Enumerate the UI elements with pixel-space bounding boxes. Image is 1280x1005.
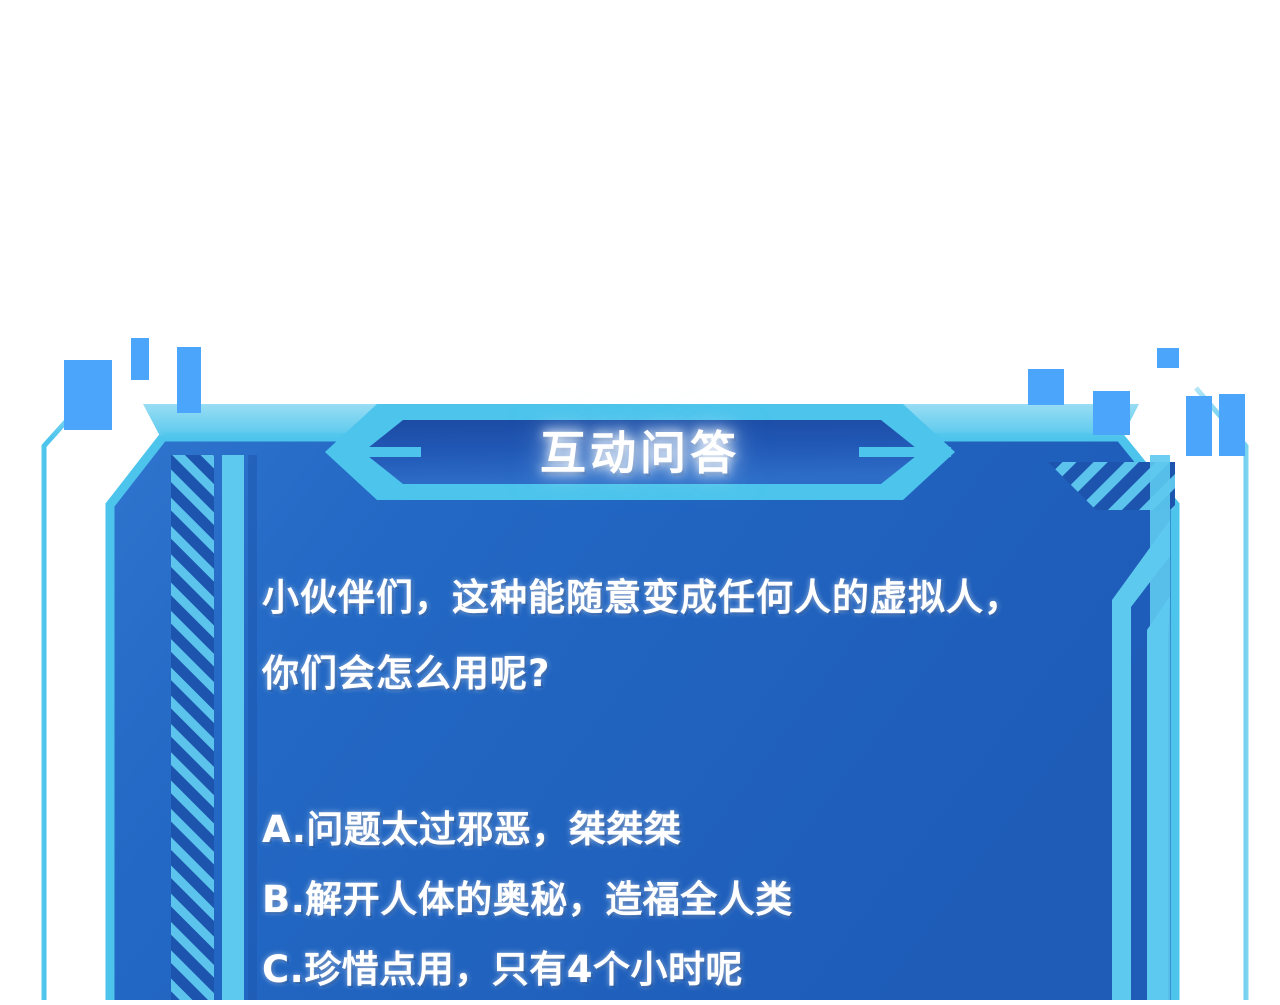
decor-square-left-2: [131, 338, 149, 380]
question-block: 小伙伴们，这种能随意变成任何人的虚拟人， 你们会怎么用呢?: [262, 560, 1162, 712]
interactive-qa-card: 互动问答 小伙伴们，这种能随意变成任何人的虚拟人， 你们会怎么用呢? A.问题太…: [0, 0, 1280, 1000]
left-accent-shadow: [248, 455, 257, 1000]
decor-square-right-3: [1157, 348, 1179, 368]
banner-inner-plate: [363, 420, 921, 484]
outer-frame-right-line: [1196, 388, 1246, 1000]
left-accent-bar: [222, 455, 244, 1000]
option-a[interactable]: A.问题太过邪恶，桀桀桀: [262, 795, 1162, 865]
decor-square-left-1: [64, 360, 112, 430]
decor-square-left-3: [177, 347, 201, 413]
question-line-1: 小伙伴们，这种能随意变成任何人的虚拟人，: [262, 560, 1162, 636]
dash-tick-icon-right: [859, 447, 951, 457]
title-banner-graphic: [325, 404, 955, 500]
decor-square-right-2: [1093, 391, 1130, 435]
outer-frame-left-line: [44, 388, 96, 1000]
question-line-2: 你们会怎么用呢?: [262, 636, 1162, 712]
dash-tick-icon-left: [331, 447, 421, 457]
decor-square-right-4: [1186, 396, 1212, 456]
decor-square-right-5: [1219, 394, 1245, 456]
option-c[interactable]: C.珍惜点用，只有4个小时呢: [262, 935, 1162, 1005]
option-b[interactable]: B.解开人体的奥秘，造福全人类: [262, 865, 1162, 935]
left-hatch-strip: [171, 455, 214, 1000]
decor-square-right-1: [1028, 369, 1064, 405]
title-banner: 互动问答: [325, 404, 955, 500]
options-list: A.问题太过邪恶，桀桀桀 B.解开人体的奥秘，造福全人类 C.珍惜点用，只有4个…: [262, 795, 1162, 1005]
